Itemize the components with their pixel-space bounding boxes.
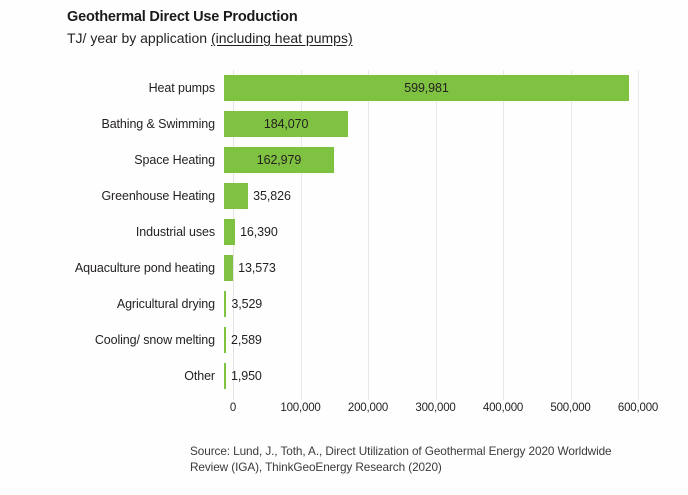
bar-value-label: 13,573 (238, 255, 276, 281)
category-label: Aquaculture pond heating (0, 261, 224, 275)
x-axis-tick-label: 300,000 (415, 402, 455, 414)
chart-subtitle: TJ/ year by application (including heat … (67, 28, 667, 48)
bar-row: Agricultural drying3,529 (0, 286, 688, 322)
bar-value-label: 184,070 (224, 111, 348, 137)
bar-track: 13,573 (224, 250, 629, 286)
bar-value-label: 162,979 (224, 147, 334, 173)
x-axis-tick-label: 0 (230, 402, 236, 414)
source-line-1: Source: Lund, J., Toth, A., Direct Utili… (190, 443, 670, 459)
bar-track: 162,979 (224, 142, 629, 178)
chart-title: Geothermal Direct Use Production (67, 8, 667, 27)
bar-track: 35,826 (224, 178, 629, 214)
bar-value-label: 16,390 (240, 219, 278, 245)
bar[interactable] (224, 219, 235, 245)
x-axis-tick-label: 500,000 (550, 402, 590, 414)
chart-subtitle-emphasis: (including heat pumps) (211, 30, 353, 46)
bar-value-label: 1,950 (231, 363, 262, 389)
bar-value-label: 2,589 (231, 327, 262, 353)
bar-row: Greenhouse Heating35,826 (0, 178, 688, 214)
bar-value-label: 3,529 (231, 291, 262, 317)
x-axis-tick-label: 100,000 (280, 402, 320, 414)
bar[interactable] (224, 327, 226, 353)
bar[interactable] (224, 291, 226, 317)
chart-subtitle-prefix: TJ/ year by application (67, 30, 211, 46)
bar-track: 3,529 (224, 286, 629, 322)
x-axis-tick-label: 400,000 (483, 402, 523, 414)
bar-track: 1,950 (224, 358, 629, 394)
category-label: Bathing & Swimming (0, 117, 224, 131)
bar-value-label: 35,826 (253, 183, 291, 209)
category-label: Other (0, 369, 224, 383)
chart-header: Geothermal Direct Use Production TJ/ yea… (67, 8, 667, 48)
category-label: Industrial uses (0, 225, 224, 239)
plot-area: Heat pumps599,981Bathing & Swimming184,0… (0, 70, 688, 415)
bar-track: 2,589 (224, 322, 629, 358)
source-line-2: Review (IGA), ThinkGeoEnergy Research (2… (190, 459, 670, 475)
category-label: Cooling/ snow melting (0, 333, 224, 347)
bar-track: 599,981 (224, 70, 629, 106)
x-axis: 0100,000200,000300,000400,000500,000600,… (233, 402, 638, 422)
bar[interactable] (224, 183, 248, 209)
bar-track: 184,070 (224, 106, 629, 142)
bar[interactable] (224, 363, 226, 389)
bar-row: Bathing & Swimming184,070 (0, 106, 688, 142)
bar-row: Cooling/ snow melting2,589 (0, 322, 688, 358)
bar-row: Heat pumps599,981 (0, 70, 688, 106)
bar-track: 16,390 (224, 214, 629, 250)
bar-row: Aquaculture pond heating13,573 (0, 250, 688, 286)
category-label: Heat pumps (0, 81, 224, 95)
category-label: Agricultural drying (0, 297, 224, 311)
bar[interactable] (224, 255, 233, 281)
bar-rows: Heat pumps599,981Bathing & Swimming184,0… (0, 70, 688, 394)
category-label: Space Heating (0, 153, 224, 167)
bar-value-label: 599,981 (224, 75, 629, 101)
bar-row: Industrial uses16,390 (0, 214, 688, 250)
x-axis-tick-label: 200,000 (348, 402, 388, 414)
source-caption: Source: Lund, J., Toth, A., Direct Utili… (190, 443, 670, 475)
bar-row: Space Heating162,979 (0, 142, 688, 178)
chart-canvas: Geothermal Direct Use Production TJ/ yea… (0, 0, 688, 495)
bar-row: Other1,950 (0, 358, 688, 394)
x-axis-tick-label: 600,000 (618, 402, 658, 414)
category-label: Greenhouse Heating (0, 189, 224, 203)
